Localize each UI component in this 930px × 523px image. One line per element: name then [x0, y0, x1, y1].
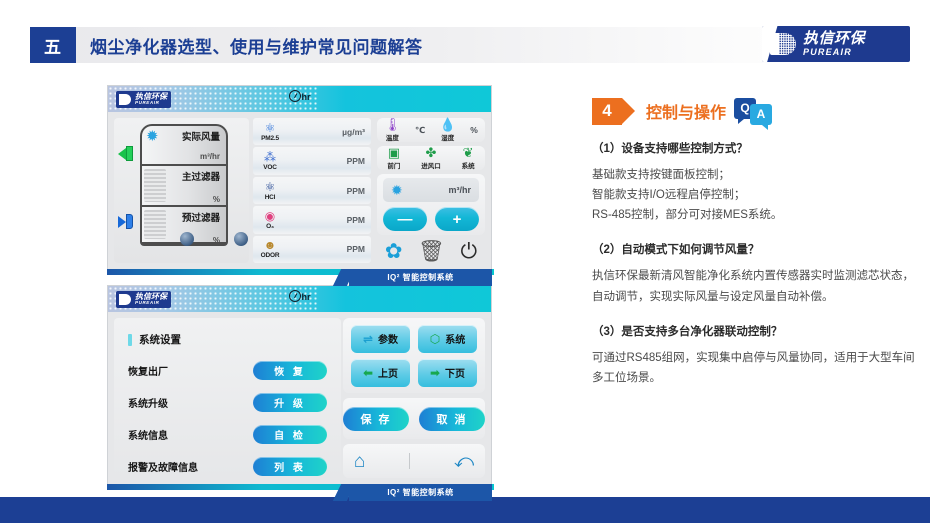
faq-question: （2）自动模式下如何调节风量？ [592, 241, 922, 257]
hmi2-hour-unit: hr [302, 292, 311, 302]
airflow-unit: m³/hr [148, 152, 220, 161]
caster-wheel-icon [234, 232, 248, 246]
airflow-setpoint-display[interactable]: ✹ m³/hr [383, 178, 479, 202]
section-number-badge: 五 [30, 27, 76, 63]
sensor-readout-list: ⚛ PM2.5 µg/m³ ⁂ VOC PPM ⚛ HCl [253, 118, 371, 263]
clock-icon [289, 290, 301, 302]
sensor-unit: PPM [347, 156, 365, 166]
fan-icon: ✹ [146, 129, 162, 145]
air-inlet-arrow-icon [118, 214, 133, 229]
hmi1-logo: 执信环保 PUREAIR [116, 91, 171, 108]
dust-bin-icon[interactable]: 🗑 [418, 241, 445, 262]
hmi2-control-column: ⇌ 参数 ⬡ 系统 ⬅ 上页 ➡ [343, 318, 485, 478]
navigation-card: ⇌ 参数 ⬡ 系统 ⬅ 上页 ➡ [343, 318, 485, 393]
logo-mark-icon [768, 31, 798, 57]
home-back-card: ⌂ ⤺ [343, 444, 485, 478]
hmi1-control-column: 🌡 温度 ℃ 💧 湿度 % ▣ 前门 ✤ [377, 118, 485, 263]
sensor-row[interactable]: ☻ ODOR PPM [253, 236, 371, 263]
fan-icon: ✹ [391, 182, 403, 199]
hexagon-icon: ⬡ [430, 333, 440, 345]
faq-question: （1）设备支持哪些控制方式？ [592, 140, 922, 156]
save-cancel-card: 保 存 取 消 [343, 398, 485, 439]
hmi1-hour-unit: hr [302, 92, 311, 102]
sensor-unit: µg/m³ [342, 127, 365, 137]
purifier-graphic: ✹ 实际风量 m³/hr 主过滤器 % 预过滤器 % [140, 124, 228, 246]
logo-english-name: PUREAIR [803, 48, 865, 57]
hmi1-logo-en: PUREAIR [135, 101, 167, 106]
restore-button[interactable]: 恢 复 [253, 361, 327, 380]
front-door-icon[interactable]: ▣ 前门 [387, 146, 400, 170]
odor-icon: ☻ ODOR [256, 239, 284, 259]
setting-row-system-info: 系统信息 自 检 [128, 425, 327, 444]
airflow-setpoint-unit: m³/hr [449, 185, 472, 195]
home-icon[interactable]: ⌂ [354, 452, 365, 471]
qa-badge-icon: Q A [734, 98, 772, 125]
section-header: 4 控制与操作 Q A [592, 96, 922, 126]
save-button[interactable]: 保 存 [343, 407, 409, 431]
sensor-row[interactable]: ⚛ HCl PPM [253, 177, 371, 204]
settings-heading: 系统设置 [128, 332, 327, 347]
hmi1-runtime-hours: hr [289, 90, 311, 102]
pm25-icon: ⚛ PM2.5 [256, 122, 284, 142]
sensor-unit: PPM [347, 244, 365, 254]
sliders-icon: ⇌ [363, 333, 373, 345]
arrow-left-icon: ⬅ [363, 367, 373, 379]
sensor-unit: PPM [347, 186, 365, 196]
hmi2-body: 系统设置 恢复出厂 恢 复 系统升级 升 级 系统信息 自 检 报警及故障信息 … [108, 312, 491, 484]
faq-answer: 可通过RS485组网，实现集中启停与风量协同，适用于大型车间多工位场景。 [592, 348, 922, 388]
hmi2-runtime-hours: hr [289, 290, 311, 302]
sensor-row[interactable]: ⁂ VOC PPM [253, 147, 371, 174]
airflow-control-card: ✹ m³/hr — + [377, 174, 485, 235]
section-title: 控制与操作 [646, 99, 726, 123]
settings-gear-icon[interactable]: ✿ [385, 241, 403, 262]
hmi2-logo-en: PUREAIR [135, 301, 167, 306]
arrow-right-icon: ➡ [430, 367, 440, 379]
setting-label: 系统信息 [128, 427, 168, 442]
faq-column: 4 控制与操作 Q A （1）设备支持哪些控制方式？ 基础款支持按键面板控制； … [592, 96, 922, 404]
decrease-airflow-button[interactable]: — [383, 207, 427, 231]
hmi1-action-icons: ✿ 🗑 ⏻ [377, 239, 485, 263]
clock-icon [289, 90, 301, 102]
hmi1-titlebar: 执信环保 PUREAIR hr [108, 86, 491, 112]
params-button[interactable]: ⇌ 参数 [351, 325, 410, 353]
voc-icon: ⁂ VOC [256, 151, 284, 171]
heading-tick-icon [128, 334, 132, 346]
back-arrow-icon[interactable]: ⤺ [454, 452, 474, 471]
hcl-icon: ⚛ HCl [256, 181, 284, 201]
hmi2-footer-tag: IQ² 智能控制系统 [349, 484, 492, 501]
filter-icon [144, 169, 166, 202]
caster-wheel-icon [180, 232, 194, 246]
faq-answer: 执信环保最新清风智能净化系统内置传感器实时监测滤芯状态，自动调节，实现实际风量与… [592, 266, 922, 306]
page-title: 烟尘净化器选型、使用与维护常见问题解答 [90, 27, 423, 63]
system-button[interactable]: ⬡ 系统 [418, 325, 477, 353]
company-logo: 执信环保 PUREAIR [762, 26, 910, 62]
temperature-icon: 🌡 温度 [384, 118, 401, 142]
divider [409, 453, 410, 469]
system-settings-list: 系统设置 恢复出厂 恢 复 系统升级 升 级 系统信息 自 检 报警及故障信息 … [114, 318, 341, 478]
humidity-unit: % [470, 125, 478, 135]
device-section-airflow[interactable]: ✹ 实际风量 m³/hr [142, 126, 226, 166]
filter-icon [144, 210, 166, 239]
air-outlet-arrow-icon [118, 146, 133, 161]
logo-chinese-name: 执信环保 [803, 31, 865, 46]
power-icon[interactable]: ⏻ [461, 241, 478, 262]
sensor-row[interactable]: ⚛ PM2.5 µg/m³ [253, 118, 371, 145]
setting-label: 恢复出厂 [128, 363, 168, 378]
system-status-icon[interactable]: ❦ 系统 [462, 146, 475, 170]
self-check-button[interactable]: 自 检 [253, 425, 327, 444]
section-number: 4 [592, 98, 622, 125]
hmi-main-screen: 执信环保 PUREAIR hr ✹ 实际风量 m³/hr [107, 85, 492, 270]
faq-question: （3）是否支持多台净化器联动控制？ [592, 323, 922, 339]
air-inlet-icon[interactable]: ✤ 进风口 [421, 146, 441, 170]
hmi1-body: ✹ 实际风量 m³/hr 主过滤器 % 预过滤器 % [108, 112, 491, 269]
upgrade-button[interactable]: 升 级 [253, 393, 327, 412]
setting-row-factory-reset: 恢复出厂 恢 复 [128, 361, 327, 380]
environment-readout-card: 🌡 温度 ℃ 💧 湿度 % [377, 118, 485, 142]
faq-item: （2）自动模式下如何调节风量？ 执信环保最新清风智能净化系统内置传感器实时监测滤… [592, 241, 922, 306]
cancel-button[interactable]: 取 消 [419, 407, 485, 431]
status-indicator-card: ▣ 前门 ✤ 进风口 ❦ 系统 [377, 146, 485, 170]
faq-item: （1）设备支持哪些控制方式？ 基础款支持按键面板控制； 智能款支持I/O远程启停… [592, 140, 922, 225]
setting-label: 报警及故障信息 [128, 459, 198, 474]
setting-label: 系统升级 [128, 395, 168, 410]
temperature-unit: ℃ [415, 125, 425, 136]
setting-row-system-upgrade: 系统升级 升 级 [128, 393, 327, 412]
slide-page: 五 烟尘净化器选型、使用与维护常见问题解答 执信环保 PUREAIR 执信环保 … [0, 0, 930, 523]
device-diagram: ✹ 实际风量 m³/hr 主过滤器 % 预过滤器 % [114, 118, 249, 263]
device-section-main-filter[interactable]: 主过滤器 % [142, 166, 226, 207]
sensor-unit: PPM [347, 215, 365, 225]
next-page-button[interactable]: ➡ 下页 [418, 359, 477, 387]
hmi2-logo: 执信环保 PUREAIR [116, 291, 171, 308]
list-button[interactable]: 列 表 [253, 457, 327, 476]
sensor-row[interactable]: ◉ O₃ PPM [253, 206, 371, 233]
ozone-icon: ◉ O₃ [256, 210, 284, 230]
increase-airflow-button[interactable]: + [435, 207, 479, 231]
faq-answer: 基础款支持按键面板控制； 智能款支持I/O远程启停控制； RS-485控制，部分… [592, 165, 922, 225]
hmi2-titlebar: 执信环保 PUREAIR hr [108, 286, 491, 312]
hmi-settings-screen: 执信环保 PUREAIR hr 系统设置 恢复出厂 恢 复 [107, 285, 492, 485]
prev-page-button[interactable]: ⬅ 上页 [351, 359, 410, 387]
hmi1-footer-tag: IQ² 智能控制系统 [349, 269, 492, 286]
faq-item: （3）是否支持多台净化器联动控制？ 可通过RS485组网，实现集中启停与风量协同… [592, 323, 922, 388]
setting-row-alarm-info: 报警及故障信息 列 表 [128, 457, 327, 476]
answer-bubble-icon: A [750, 104, 772, 125]
humidity-icon: 💧 湿度 [440, 118, 456, 142]
